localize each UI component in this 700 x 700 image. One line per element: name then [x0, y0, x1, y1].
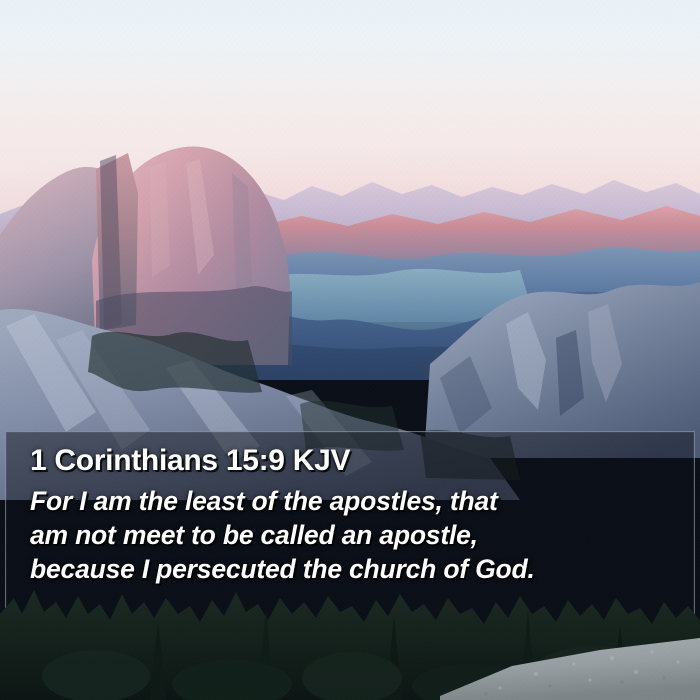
verse-image-card: 1 Corinthians 15:9 KJV For I am the leas…: [0, 0, 700, 700]
verse-reference: 1 Corinthians 15:9 KJV: [30, 444, 676, 478]
verse-text-line-2: am not meet to be called an apostle,: [30, 518, 676, 552]
foreground-granite-slab: [440, 638, 700, 700]
verse-text-line-1: For I am the least of the apostles, that: [30, 484, 676, 518]
verse-text: For I am the least of the apostles, that…: [30, 484, 676, 587]
